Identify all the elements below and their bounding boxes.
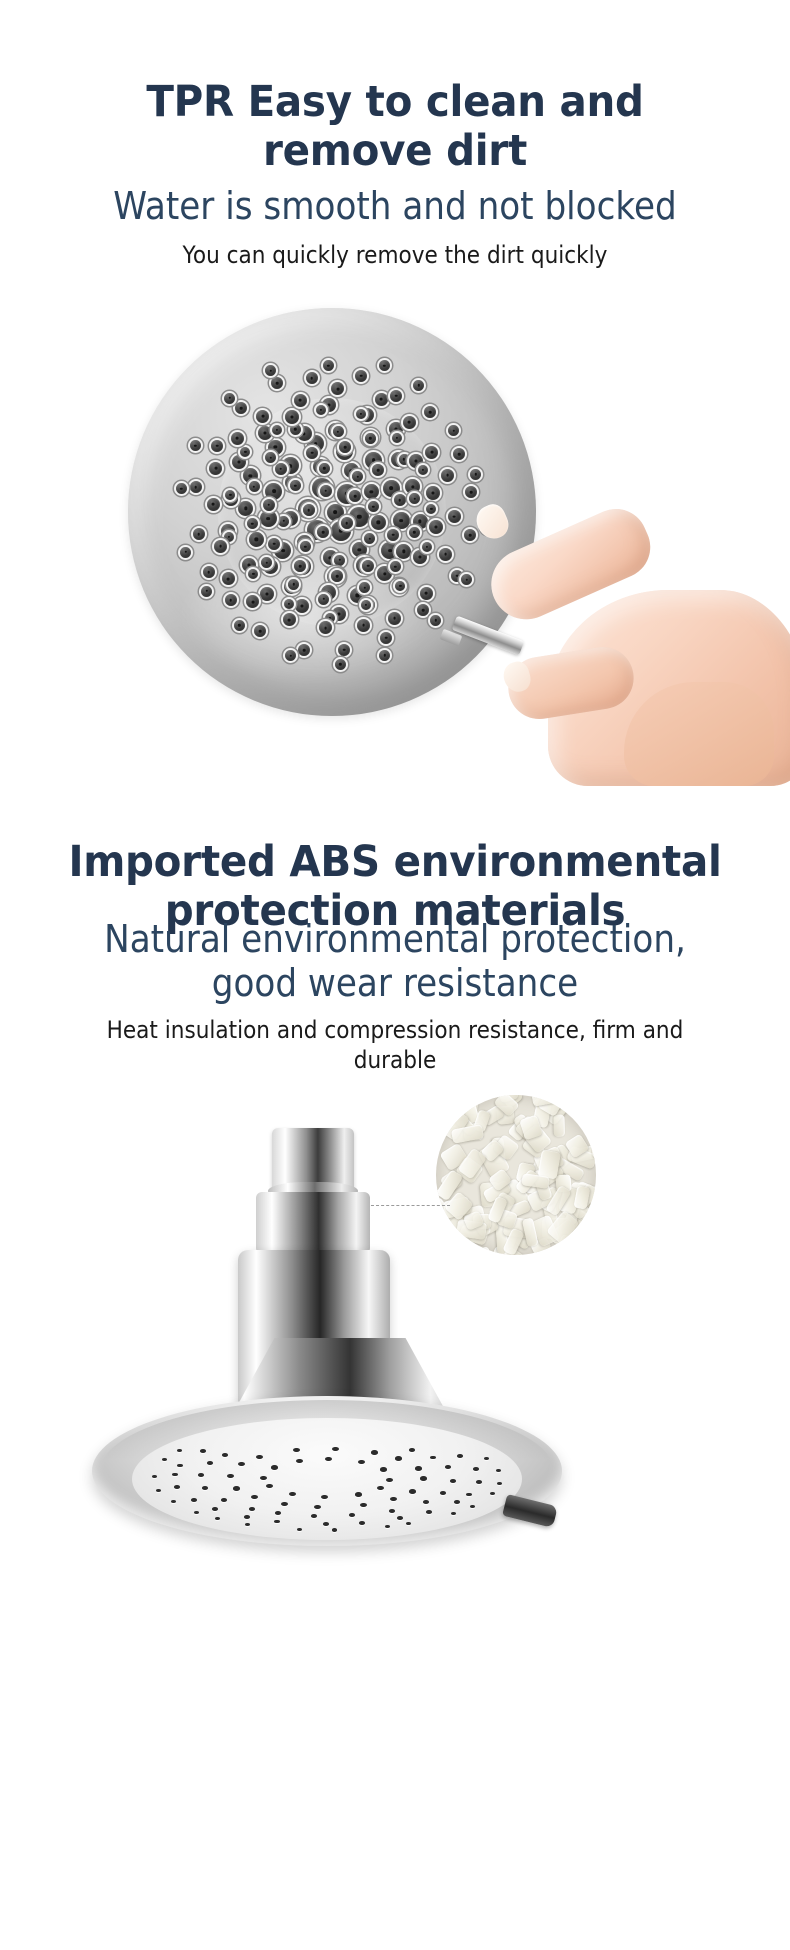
- nozzle-dot: [318, 594, 329, 605]
- nozzle-dot: [180, 547, 191, 558]
- nozzle-dot: [224, 393, 235, 404]
- shower-jet: [380, 1467, 387, 1471]
- nozzle-dot: [275, 463, 287, 475]
- nozzle-dot: [225, 490, 235, 500]
- nozzle-dot: [371, 515, 386, 530]
- nozzle-dot: [263, 499, 275, 511]
- nozzle-dot: [418, 465, 428, 475]
- shower-jet: [202, 1486, 208, 1490]
- nozzle-dot: [248, 569, 258, 579]
- nozzle-dot: [425, 446, 438, 459]
- nozzle-dot: [190, 440, 201, 451]
- nozzle-dot: [365, 433, 376, 444]
- nozzle-dot: [201, 586, 212, 597]
- section-1-title: TPR Easy to clean and remove dirt: [24, 78, 767, 176]
- nozzle-dot: [393, 512, 410, 529]
- section-1-subtitle-block: Water is smooth and not blocked: [0, 185, 790, 229]
- shower-jet: [451, 1512, 456, 1515]
- section-1-caption: You can quickly remove the dirt quickly: [40, 240, 751, 270]
- nozzle-dot: [409, 527, 420, 538]
- shower-jet: [457, 1454, 463, 1458]
- nozzle-dot: [399, 454, 410, 465]
- nozzle-dot: [260, 587, 274, 601]
- nozzle-dot: [356, 409, 366, 419]
- nozzle-dot: [319, 463, 330, 474]
- nozzle-dot: [396, 544, 411, 559]
- nozzle-dot: [249, 481, 260, 492]
- nozzle-dot: [390, 561, 401, 572]
- nozzle-dot: [211, 440, 223, 452]
- nozzle-dot: [278, 516, 289, 527]
- shower-jet: [445, 1465, 451, 1469]
- section-1-caption-block: You can quickly remove the dirt quickly: [0, 240, 790, 270]
- nozzle-dot: [303, 504, 315, 516]
- shower-jet: [212, 1507, 218, 1511]
- nozzle-dot: [394, 494, 406, 506]
- nozzle-dot: [260, 510, 277, 527]
- nozzle-dot: [388, 612, 401, 625]
- section-1-title-block: TPR Easy to clean and remove dirt: [0, 78, 790, 176]
- nozzle-dot: [231, 432, 244, 445]
- nozzle-dot: [441, 469, 454, 482]
- nozzle-dot: [306, 372, 318, 384]
- nozzle-dot: [413, 380, 424, 391]
- shower-jet: [454, 1500, 460, 1504]
- shower-collar: [256, 1192, 370, 1254]
- nozzle-dot: [224, 532, 234, 542]
- nozzle-dot: [288, 579, 299, 590]
- nozzle-dot: [392, 433, 402, 443]
- abs-pellet: [565, 1097, 588, 1112]
- shower-jet: [389, 1509, 395, 1513]
- nozzle-dot: [190, 481, 202, 493]
- shower-jet: [470, 1505, 475, 1508]
- abs-pellet: [480, 1095, 497, 1096]
- nozzle-dot: [209, 462, 222, 475]
- nozzle-dot: [338, 644, 350, 656]
- shower-jet: [484, 1457, 489, 1460]
- shower-jet: [260, 1476, 267, 1480]
- shower-jet: [323, 1522, 329, 1526]
- shower-jet: [440, 1491, 446, 1495]
- shower-jet: [450, 1479, 456, 1483]
- nozzle-dot: [294, 394, 307, 407]
- nozzle-dot: [439, 548, 452, 561]
- shower-jet: [289, 1492, 296, 1496]
- nozzle-dot: [390, 390, 402, 402]
- nozzle-dot: [320, 485, 332, 497]
- nozzle-dot: [306, 447, 318, 459]
- nozzle-dot: [361, 600, 371, 610]
- hand-index-fingernail: [472, 500, 513, 543]
- nozzle-dot: [317, 526, 329, 538]
- shower-jet: [360, 1503, 367, 1507]
- shower-jet: [490, 1492, 495, 1495]
- nozzle-dot: [176, 483, 187, 494]
- shower-jet: [221, 1498, 227, 1502]
- section-2-caption-block: Heat insulation and compression resistan…: [0, 1015, 790, 1075]
- nozzle-dot: [283, 613, 296, 626]
- nozzle-dot: [403, 416, 416, 429]
- shower-jet: [423, 1500, 429, 1504]
- nozzle-dot: [247, 518, 258, 529]
- nozzle-dot: [430, 615, 441, 626]
- nozzle-dot: [426, 486, 440, 500]
- nozzle-dot: [225, 594, 237, 606]
- shower-jet: [355, 1492, 362, 1496]
- shower-jet: [409, 1489, 416, 1493]
- shower-jet: [325, 1457, 332, 1461]
- nozzle-dot: [357, 619, 370, 632]
- shower-jet: [395, 1456, 402, 1460]
- nozzle-dot: [265, 483, 282, 500]
- shower-jet: [415, 1466, 422, 1470]
- shower-jet: [496, 1469, 501, 1472]
- shower-jet: [233, 1486, 240, 1490]
- abs-pellet: [586, 1210, 596, 1231]
- nozzle-dot: [362, 560, 374, 572]
- shower-jet: [198, 1473, 204, 1477]
- nozzle-dot: [203, 566, 215, 578]
- shower-head-image: [92, 1128, 562, 1548]
- shower-jet: [249, 1507, 255, 1511]
- shower-jet: [191, 1498, 197, 1502]
- nozzle-dot: [333, 426, 344, 437]
- nozzle-dot: [214, 540, 227, 553]
- nozzle-dot: [193, 528, 205, 540]
- nozzle-dot: [285, 410, 299, 424]
- section-2-caption: Heat insulation and compression resistan…: [40, 1015, 751, 1075]
- nozzle-dot: [334, 555, 345, 566]
- section-2-subtitle: Natural environmental protection, good w…: [40, 918, 751, 1005]
- nozzle-dot: [290, 424, 301, 435]
- nozzle-dot: [368, 501, 379, 512]
- nozzle-dot: [420, 587, 433, 600]
- shower-jet: [296, 1459, 303, 1463]
- nozzle-dot: [375, 393, 388, 406]
- shower-jet: [497, 1482, 502, 1485]
- nozzle-dot: [355, 370, 367, 382]
- nozzle-dot: [316, 405, 326, 415]
- shower-jet: [476, 1480, 482, 1484]
- shower-jet: [358, 1460, 365, 1464]
- nozzle-dot: [448, 510, 461, 523]
- shower-mode-lever: [502, 1494, 558, 1528]
- shower-jet: [321, 1495, 328, 1499]
- shower-jet: [420, 1476, 427, 1480]
- shower-jet: [271, 1465, 278, 1469]
- shower-jet: [409, 1448, 415, 1452]
- nozzle-dot: [222, 572, 235, 585]
- nozzle-dot: [470, 469, 481, 480]
- nozzle-dot: [232, 455, 246, 469]
- shower-jet: [194, 1511, 199, 1514]
- nozzle-dot: [268, 538, 280, 550]
- nozzle-dot: [284, 599, 294, 609]
- shower-jet: [152, 1475, 157, 1478]
- shower-jet: [332, 1528, 337, 1531]
- nozzle-dot: [207, 498, 220, 511]
- nozzle-dot: [295, 599, 309, 613]
- nozzle-dot: [290, 480, 301, 491]
- nozzle-dot: [327, 504, 344, 521]
- pointing-hand: [474, 486, 790, 786]
- section-1-subtitle: Water is smooth and not blocked: [40, 185, 751, 229]
- section-2-subtitle-block: Natural environmental protection, good w…: [0, 918, 790, 1005]
- product-feature-page: TPR Easy to clean and remove dirt Water …: [0, 0, 790, 1950]
- shower-jet: [281, 1502, 288, 1506]
- nozzle-dot: [335, 659, 346, 670]
- shower-jet: [359, 1521, 365, 1525]
- shower-jet: [371, 1450, 378, 1454]
- nozzle-dot: [339, 441, 351, 453]
- nozzle-dot: [234, 620, 245, 631]
- nozzle-dot: [249, 532, 264, 547]
- shower-jet: [156, 1489, 161, 1492]
- nozzle-dot: [387, 529, 399, 541]
- shower-jet: [245, 1523, 250, 1526]
